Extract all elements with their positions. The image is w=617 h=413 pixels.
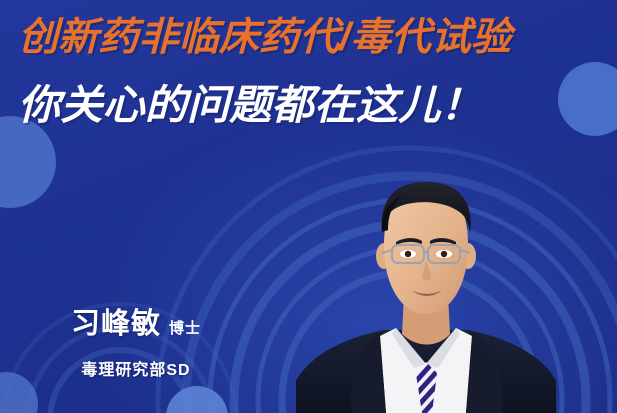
portrait-eye-right [441,251,447,257]
headline: 创新药非临床药代/毒代试验 你关心的问题都在这儿！ [18,18,603,126]
speaker-name: 习峰敏 [71,300,161,342]
speaker-portrait [296,182,556,413]
headline-line-2: 你关心的问题都在这儿！ [18,85,617,126]
speaker-name-row: 习峰敏 博士 [36,300,236,342]
speaker-info: 习峰敏 博士 毒理研究部SD [36,300,236,380]
speaker-department: 毒理研究部SD [36,356,236,380]
portrait-eye-left [405,251,411,257]
headline-line-1: 创新药非临床药代/毒代试验 [18,18,617,57]
promo-poster: 创新药非临床药代/毒代试验 你关心的问题都在这儿！ 习峰敏 博士 毒理研究部SD [0,0,617,413]
speaker-degree: 博士 [169,317,201,338]
